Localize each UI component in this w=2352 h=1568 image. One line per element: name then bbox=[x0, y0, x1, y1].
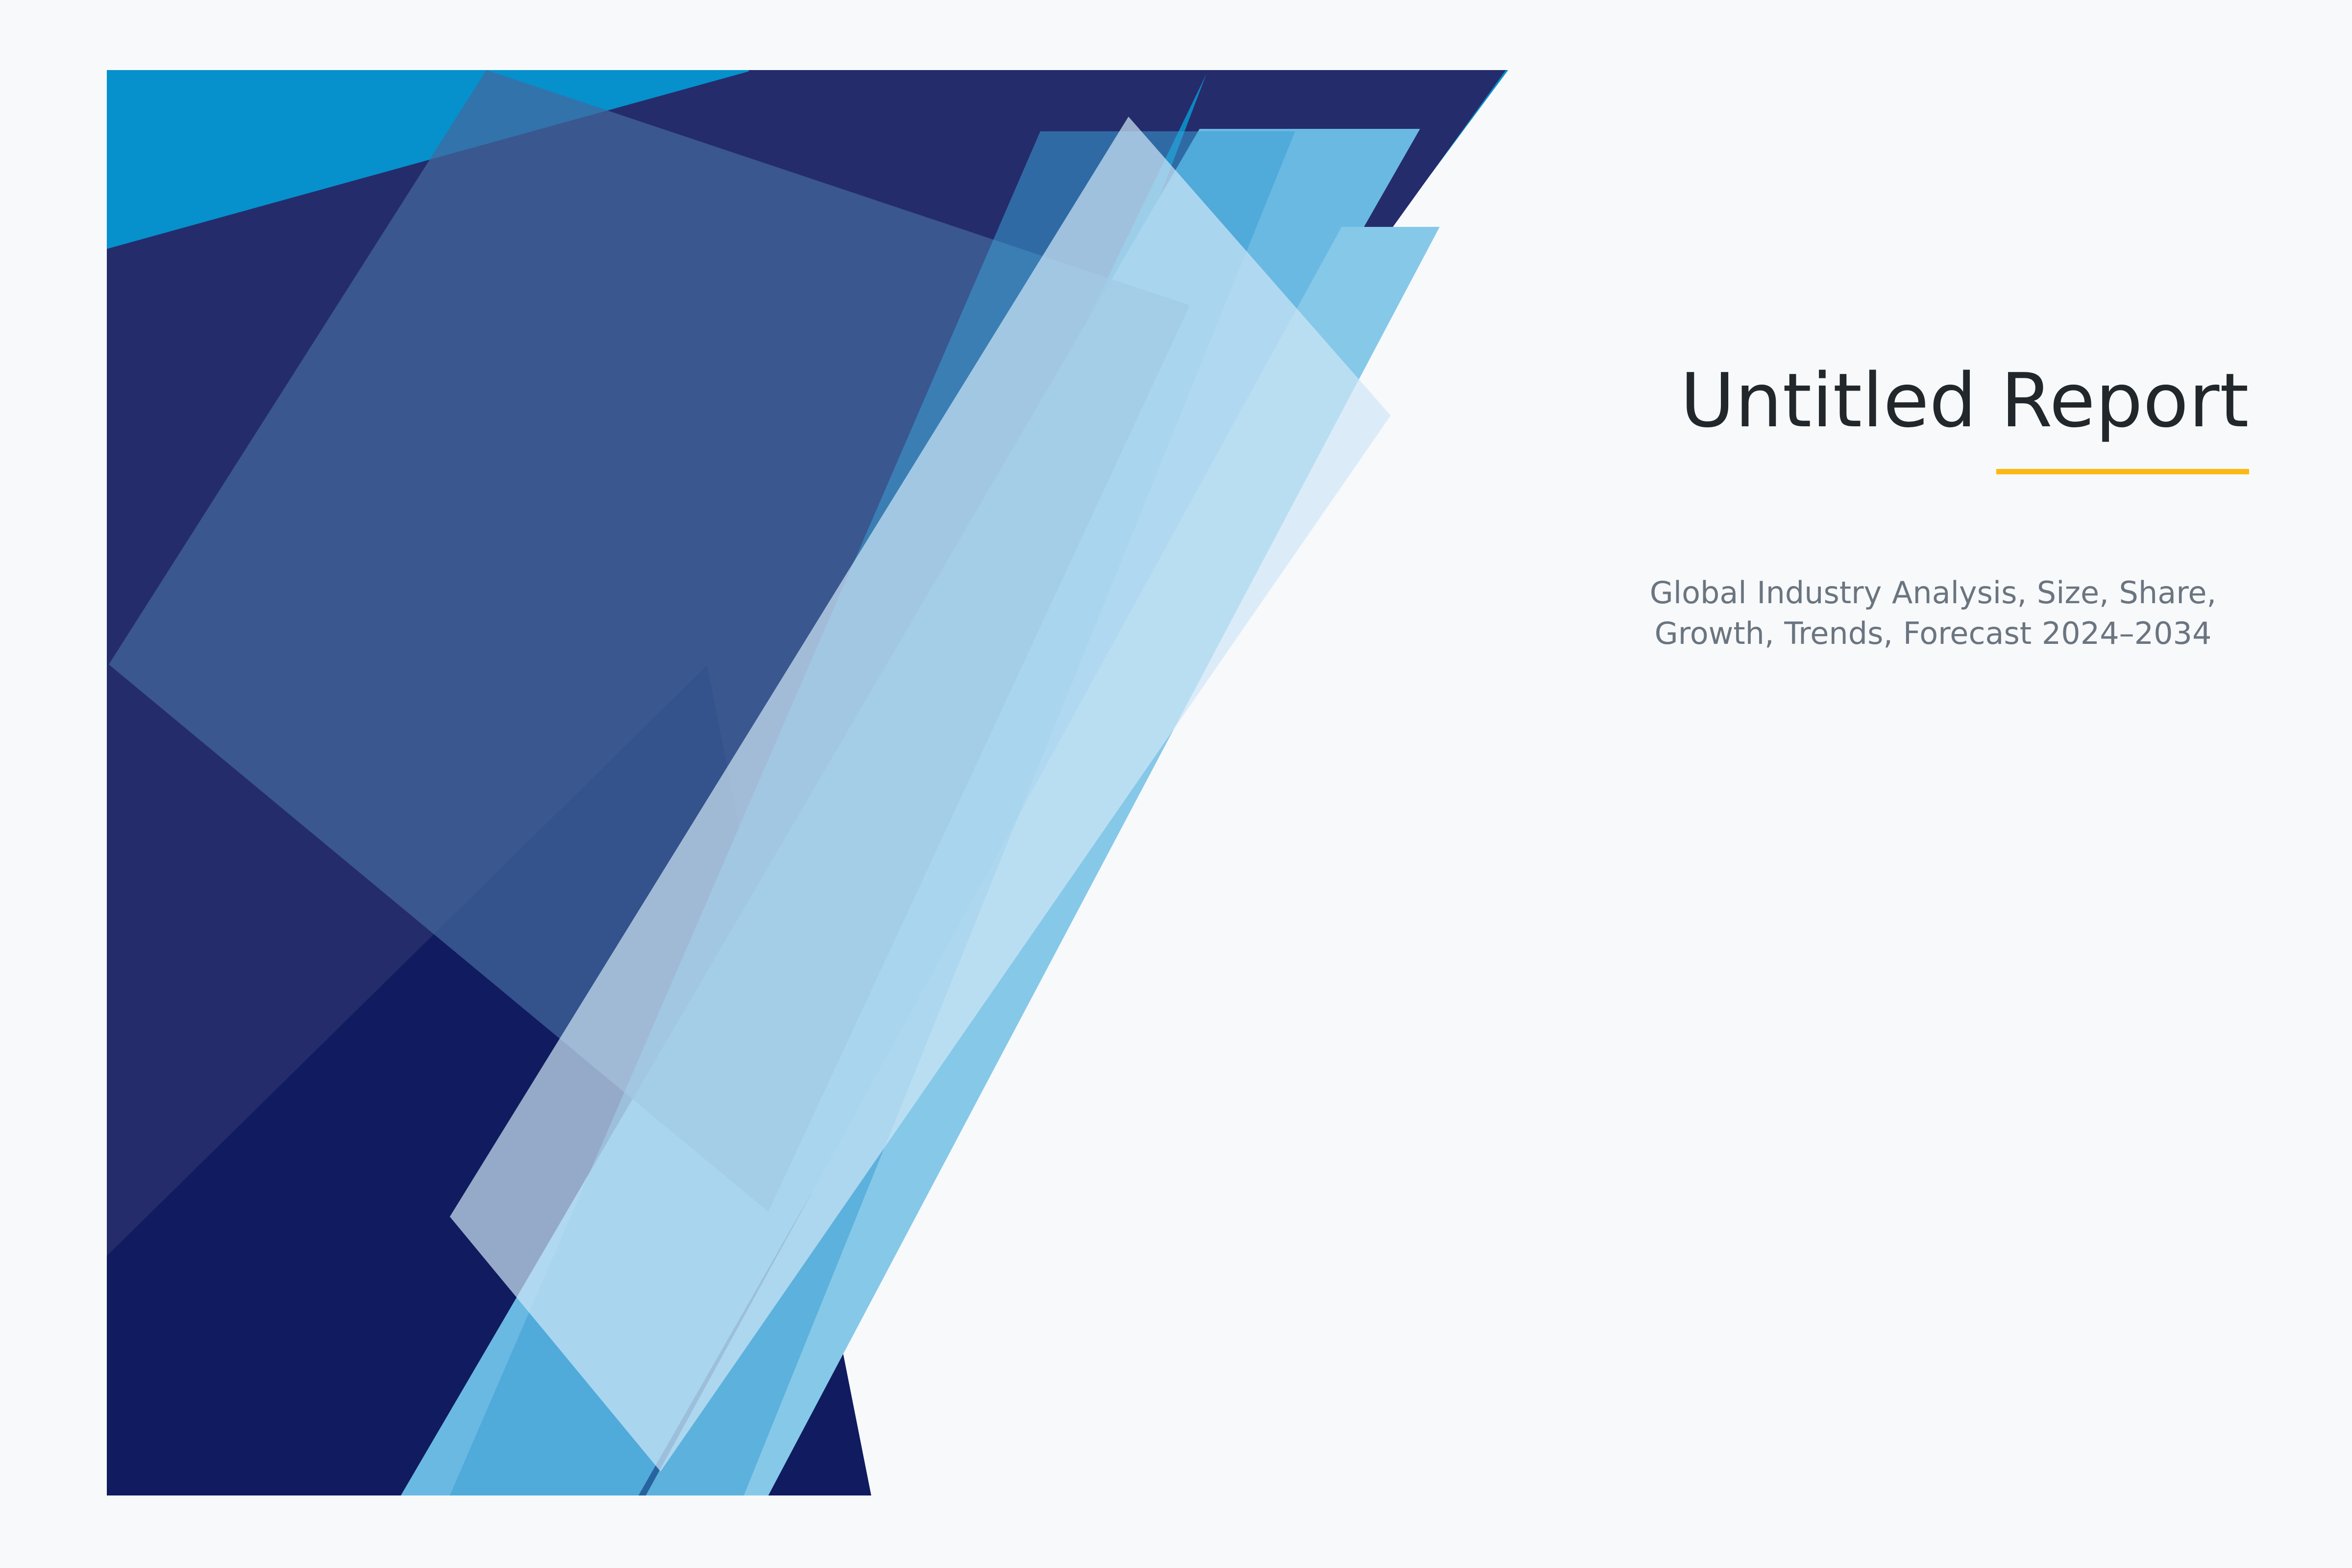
title-rule-wrapper bbox=[1617, 469, 2249, 474]
cover-text-block: Untitled Report Global Industry Analysis… bbox=[1617, 363, 2249, 654]
abstract-geometric-graphic bbox=[107, 70, 1508, 1495]
cover-artwork bbox=[107, 70, 1508, 1495]
title-accent-rule bbox=[1996, 469, 2249, 474]
page-title: Untitled Report bbox=[1617, 363, 2249, 439]
report-cover-page: Untitled Report Global Industry Analysis… bbox=[0, 0, 2352, 1568]
page-subtitle: Global Industry Analysis, Size, Share, G… bbox=[1617, 572, 2249, 654]
